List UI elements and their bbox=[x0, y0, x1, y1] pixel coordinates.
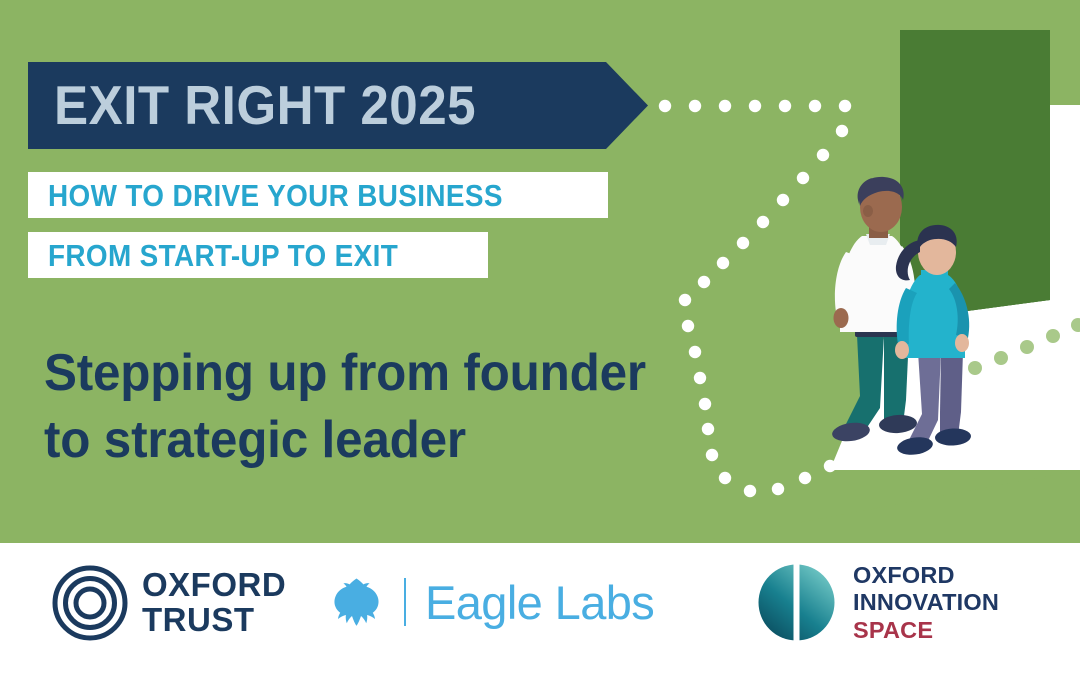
headline: Stepping up from founder to strategic le… bbox=[44, 340, 704, 473]
subtitle-bar-line1: HOW TO DRIVE YOUR BUSINESS bbox=[28, 172, 608, 218]
beam-floor-green bbox=[690, 470, 1080, 543]
eagle-labs-divider bbox=[404, 578, 406, 626]
eagle-labs-wordmark: Eagle Labs bbox=[425, 579, 654, 626]
logo-oxford-innovation-space: OXFORD INNOVATION SPACE bbox=[757, 562, 999, 644]
logo-eagle-labs: Eagle Labs bbox=[333, 577, 654, 627]
oxford-trust-line1: OXFORD bbox=[142, 568, 286, 603]
headline-line1: Stepping up from founder bbox=[44, 340, 671, 407]
page-title: EXIT RIGHT 2025 bbox=[28, 62, 549, 149]
subtitle-bar-line2: FROM START-UP TO EXIT bbox=[28, 232, 488, 278]
poster: EXIT RIGHT 2025 HOW TO DRIVE YOUR BUSINE… bbox=[0, 0, 1080, 675]
ois-line2: INNOVATION bbox=[853, 589, 999, 616]
logo-oxford-trust: OXFORD TRUST bbox=[52, 565, 286, 641]
subtitle-line1-text: HOW TO DRIVE YOUR BUSINESS bbox=[48, 180, 503, 211]
title-banner: EXIT RIGHT 2025 bbox=[28, 62, 648, 149]
ois-line3: SPACE bbox=[853, 617, 999, 644]
poster-stage: EXIT RIGHT 2025 HOW TO DRIVE YOUR BUSINE… bbox=[0, 0, 1080, 543]
barclays-eagle-icon bbox=[333, 577, 380, 627]
ois-line1: OXFORD bbox=[853, 562, 999, 589]
oxford-trust-wordmark: OXFORD TRUST bbox=[142, 568, 286, 638]
headline-line2: to strategic leader bbox=[44, 407, 671, 474]
oxford-trust-line2: TRUST bbox=[142, 603, 286, 638]
oxford-innovation-wordmark: OXFORD INNOVATION SPACE bbox=[853, 562, 999, 644]
subtitle-line2-text: FROM START-UP TO EXIT bbox=[48, 240, 398, 271]
split-circle-icon bbox=[757, 563, 836, 642]
concentric-rings-icon bbox=[52, 565, 128, 641]
